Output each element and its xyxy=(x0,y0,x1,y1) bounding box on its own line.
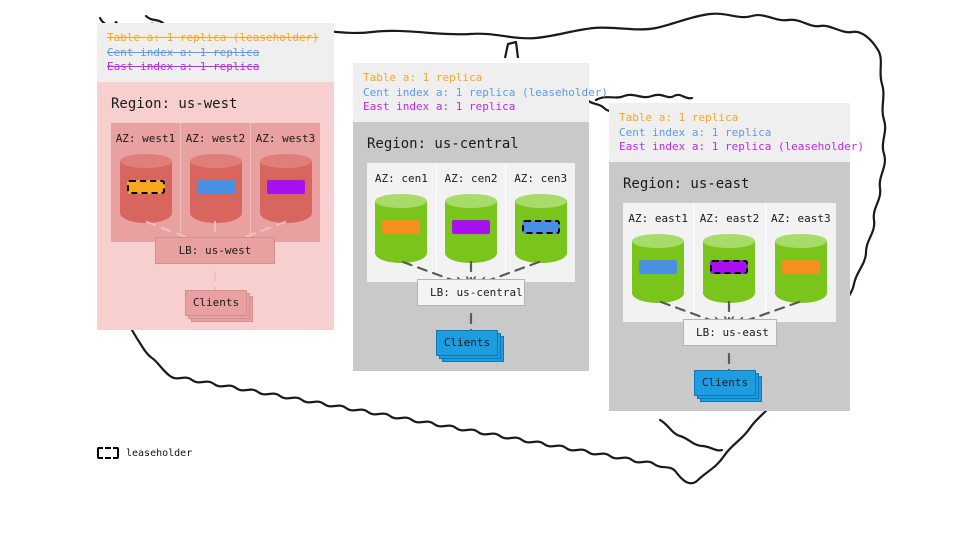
az-west3[interactable]: AZ: west3 xyxy=(250,123,320,242)
region-us-east[interactable]: Table a: 1 replica Cent index a: 1 repli… xyxy=(609,103,850,411)
replica-chip-east-index-leaseholder xyxy=(710,260,748,274)
region-us-east-title: Region: us-east xyxy=(609,162,850,203)
az-west2[interactable]: AZ: west2 xyxy=(180,123,250,242)
replica-line-cent-index: Cent index a: 1 replica (leaseholder) xyxy=(363,86,579,101)
cylinder-top xyxy=(120,154,172,168)
cylinder-top xyxy=(260,154,312,168)
cylinder-top xyxy=(190,154,242,168)
az-cen2[interactable]: AZ: cen2 xyxy=(436,163,506,282)
clients-us-east[interactable]: Clients xyxy=(694,370,764,404)
replica-chip-cent-index-leaseholder xyxy=(522,220,560,234)
az-east1[interactable]: AZ: east1 xyxy=(623,203,693,322)
node-cylinder-cen3[interactable] xyxy=(515,194,567,270)
replica-line-table-a: Table a: 1 replica xyxy=(619,111,840,126)
region-us-west-body: Region: us-west AZ: west1 AZ: west2 xyxy=(97,82,334,330)
replica-line-east-index: East index a: 1 replica (leaseholder) xyxy=(619,140,840,155)
region-us-east-replica-summary: Table a: 1 replica Cent index a: 1 repli… xyxy=(609,103,850,162)
region-us-east-az-row: AZ: east1 AZ: east2 AZ xyxy=(623,203,836,322)
legend: leaseholder xyxy=(97,447,192,459)
region-us-central-body: Region: us-central AZ: cen1 AZ: cen2 xyxy=(353,122,589,371)
region-us-west-az-row: AZ: west1 AZ: west2 AZ xyxy=(111,123,320,242)
az-cen3[interactable]: AZ: cen3 xyxy=(505,163,575,282)
legend-label: leaseholder xyxy=(126,448,192,459)
replica-chip-cent-index xyxy=(197,180,235,194)
node-cylinder-cen1[interactable] xyxy=(375,194,427,270)
replica-chip-table-a xyxy=(782,260,820,274)
node-cylinder-cen2[interactable] xyxy=(445,194,497,270)
cylinder-top xyxy=(703,234,755,248)
clients-us-east-label: Clients xyxy=(694,370,756,396)
az-east3[interactable]: AZ: east3 xyxy=(765,203,836,322)
az-west3-label: AZ: west3 xyxy=(251,132,320,145)
region-us-central-replica-summary: Table a: 1 replica Cent index a: 1 repli… xyxy=(353,63,589,122)
clients-us-west[interactable]: Clients xyxy=(185,290,255,324)
replica-line-cent-index: Cent index a: 1 replica xyxy=(619,126,840,141)
node-cylinder-east3[interactable] xyxy=(775,234,827,310)
node-cylinder-east2[interactable] xyxy=(703,234,755,310)
replica-chip-east-index xyxy=(267,180,305,194)
az-west1[interactable]: AZ: west1 xyxy=(111,123,180,242)
clients-us-central-label: Clients xyxy=(436,330,498,356)
az-cen2-label: AZ: cen2 xyxy=(437,172,506,185)
cylinder-top xyxy=(775,234,827,248)
az-cen1-label: AZ: cen1 xyxy=(367,172,436,185)
replica-chip-cent-index xyxy=(639,260,677,274)
cylinder-top xyxy=(445,194,497,208)
region-us-central[interactable]: Table a: 1 replica Cent index a: 1 repli… xyxy=(353,63,589,371)
cylinder-top xyxy=(515,194,567,208)
load-balancer-us-east[interactable]: LB: us-east xyxy=(683,319,777,346)
region-us-west-title: Region: us-west xyxy=(97,82,334,123)
replica-chip-table-a-leaseholder xyxy=(127,180,165,194)
region-us-west[interactable]: Table a: 1 replica (leaseholder) Cent in… xyxy=(97,23,334,330)
load-balancer-us-west[interactable]: LB: us-west xyxy=(155,237,275,264)
cylinder-top xyxy=(632,234,684,248)
replica-line-east-index: East index a: 1 replica xyxy=(363,100,579,115)
clients-us-central[interactable]: Clients xyxy=(436,330,506,364)
az-west1-label: AZ: west1 xyxy=(111,132,180,145)
az-east2[interactable]: AZ: east2 xyxy=(693,203,764,322)
region-us-east-body: Region: us-east AZ: east1 AZ: east2 xyxy=(609,162,850,411)
region-us-central-title: Region: us-central xyxy=(353,122,589,163)
node-cylinder-east1[interactable] xyxy=(632,234,684,310)
replica-chip-table-a xyxy=(382,220,420,234)
replica-chip-east-index xyxy=(452,220,490,234)
replica-line-table-a: Table a: 1 replica xyxy=(363,71,579,86)
load-balancer-us-central[interactable]: LB: us-central xyxy=(417,279,525,306)
replica-line-table-a: Table a: 1 replica (leaseholder) xyxy=(107,31,324,46)
az-east1-label: AZ: east1 xyxy=(623,212,693,225)
region-us-central-az-row: AZ: cen1 AZ: cen2 AZ: xyxy=(367,163,575,282)
replica-line-cent-index: Cent index a: 1 replica xyxy=(107,46,324,61)
az-west2-label: AZ: west2 xyxy=(181,132,250,145)
node-cylinder-west3[interactable] xyxy=(260,154,312,230)
az-east3-label: AZ: east3 xyxy=(766,212,836,225)
az-east2-label: AZ: east2 xyxy=(694,212,764,225)
node-cylinder-west1[interactable] xyxy=(120,154,172,230)
node-cylinder-west2[interactable] xyxy=(190,154,242,230)
region-us-west-replica-summary: Table a: 1 replica (leaseholder) Cent in… xyxy=(97,23,334,82)
az-cen3-label: AZ: cen3 xyxy=(506,172,575,185)
cylinder-top xyxy=(375,194,427,208)
az-cen1[interactable]: AZ: cen1 xyxy=(367,163,436,282)
replica-line-east-index: East index a: 1 replica xyxy=(107,60,324,75)
clients-us-west-label: Clients xyxy=(185,290,247,316)
diagram-canvas: Table a: 1 replica (leaseholder) Cent in… xyxy=(0,0,960,540)
leaseholder-dashed-swatch-icon xyxy=(97,447,119,459)
